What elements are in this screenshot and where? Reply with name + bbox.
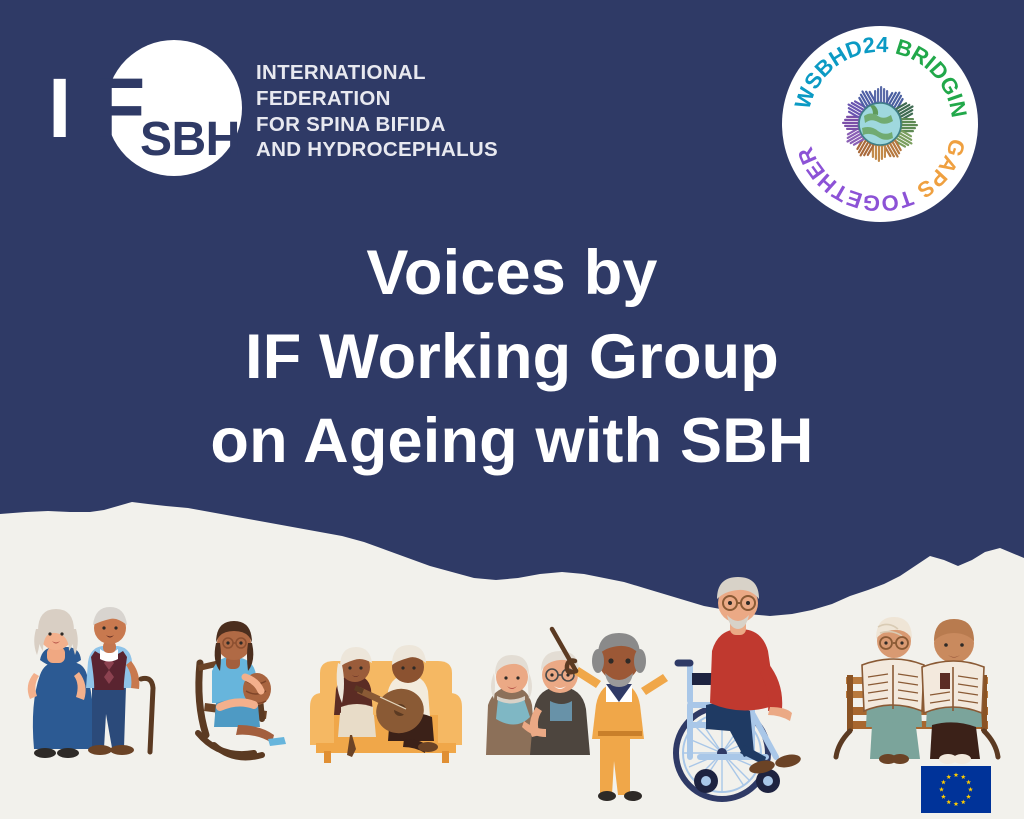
logo-wordmark-line-1: INTERNATIONAL FEDERATION	[256, 60, 508, 112]
logo-letters-sbh: SBH	[140, 116, 240, 164]
wsbhd24-badge: WSBHD24 BRIDGING GAPS TOGETHER	[782, 26, 978, 222]
european-union-flag	[921, 766, 991, 813]
logo-wordmark: INTERNATIONAL FEDERATION FOR SPINA BIFID…	[256, 60, 508, 163]
logo-letter-f: F	[94, 66, 145, 150]
two-people-reading-on-bench	[836, 617, 998, 764]
man-in-wheelchair	[676, 577, 802, 799]
if-sbh-logo: I F SBH INTERNATIONAL FEDERATION FOR SPI…	[48, 38, 508, 178]
logo-wordmark-line-2: FOR SPINA BIFIDA	[256, 112, 508, 138]
logo-wordmark-line-3: AND HYDROCEPHALUS	[256, 137, 508, 163]
title-line-3: on Ageing with SBH	[0, 400, 1024, 484]
woman-knitting-in-rocking-chair	[198, 621, 286, 757]
globe-with-hands-icon	[842, 86, 918, 162]
logo-letter-i: I	[48, 66, 70, 150]
older-adults-illustration-strip	[0, 555, 1024, 819]
page-title: Voices by IF Working Group on Ageing wit…	[0, 232, 1024, 483]
couple-on-orange-sofa	[310, 645, 462, 763]
title-line-1: Voices by	[0, 232, 1024, 316]
standing-elderly-couple	[28, 607, 153, 758]
title-line-2: IF Working Group	[0, 316, 1024, 400]
badge-artwork: WSBHD24 BRIDGING GAPS TOGETHER	[782, 26, 978, 222]
poster-canvas: I F SBH INTERNATIONAL FEDERATION FOR SPI…	[0, 0, 1024, 819]
